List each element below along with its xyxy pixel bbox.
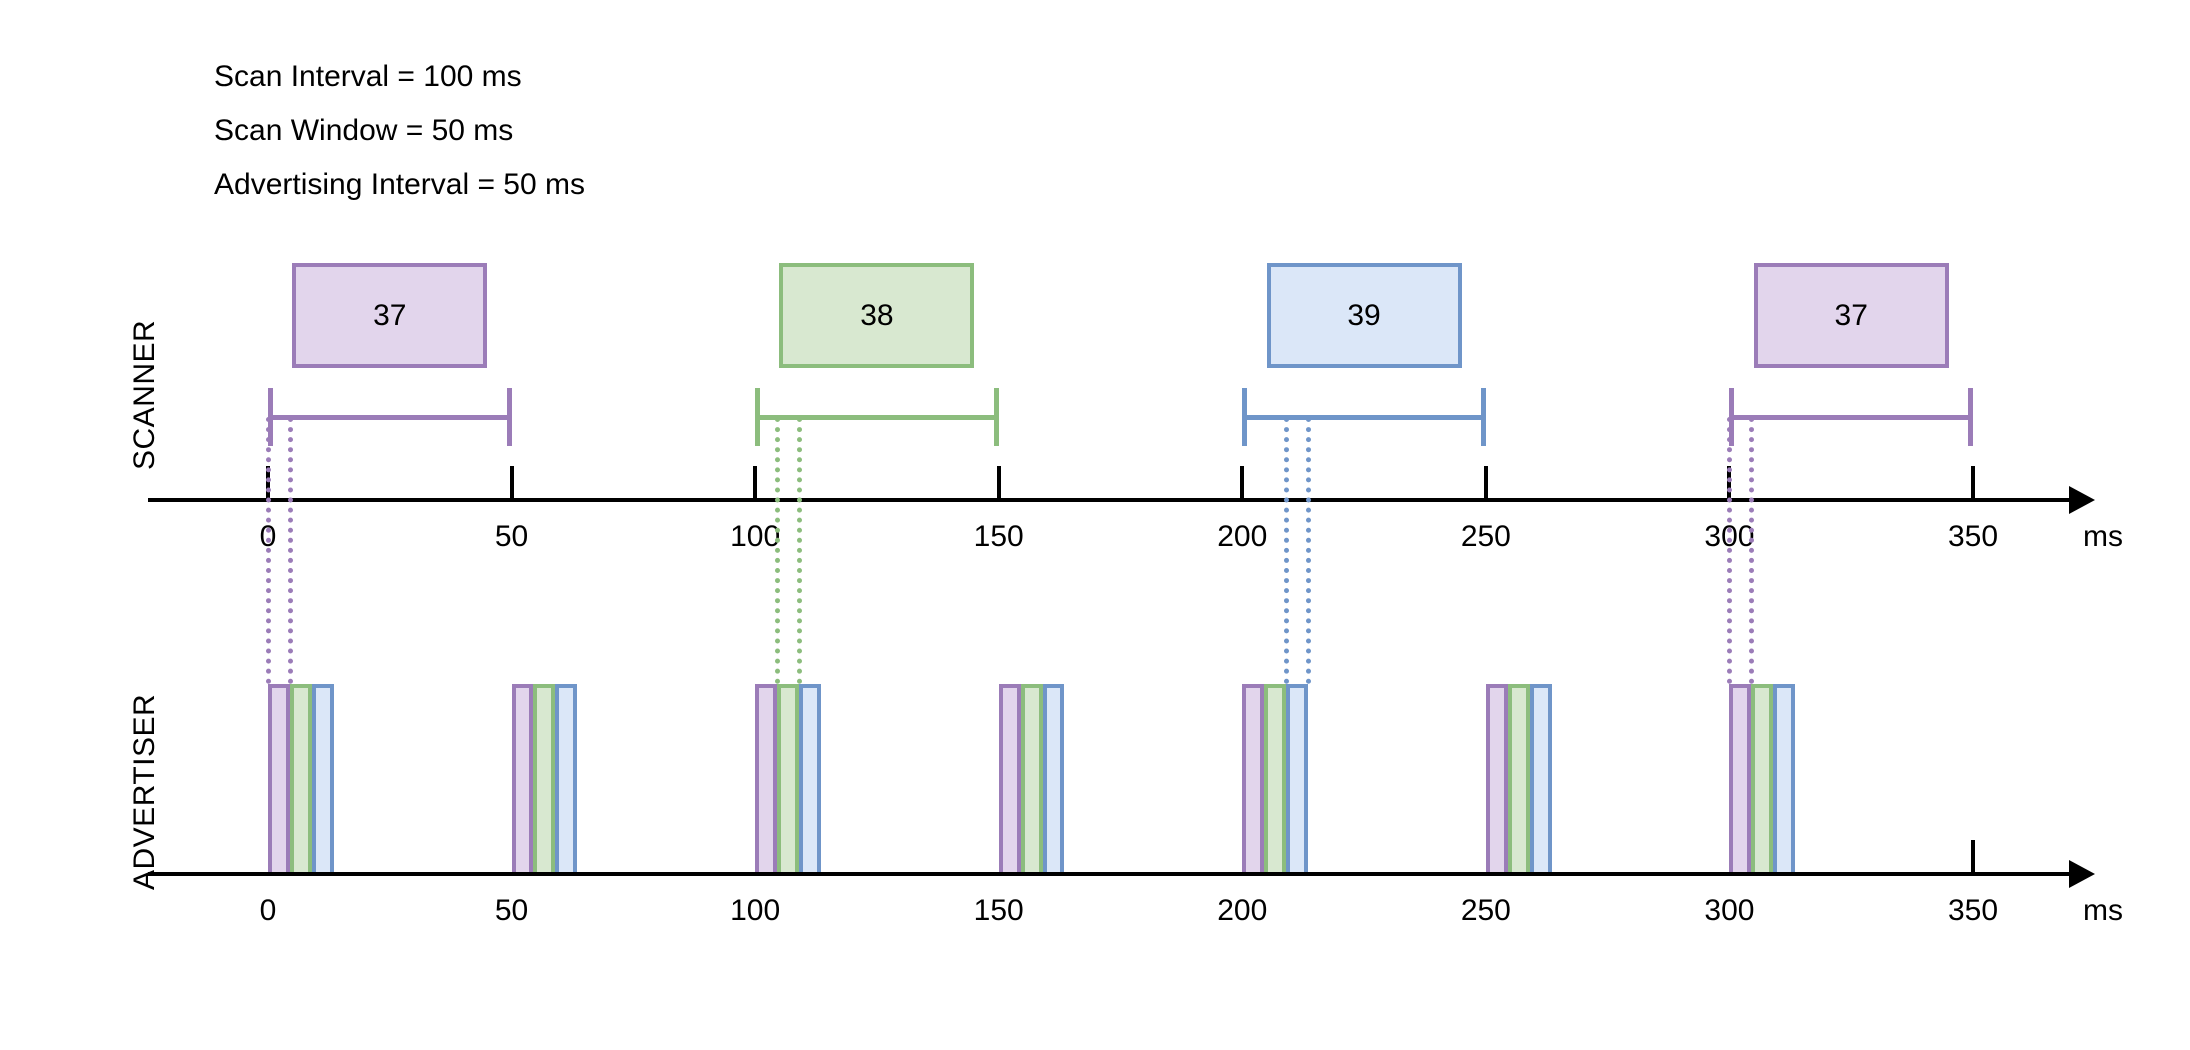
scanner-tick-label-100: 100 — [730, 520, 780, 554]
dotted-link-0-left — [266, 417, 271, 684]
dotted-link-1-left — [775, 417, 780, 684]
advertiser-tick-label-50: 50 — [495, 894, 528, 928]
adv-pulse-g1-ch37 — [512, 684, 534, 872]
dotted-link-3-right — [1749, 417, 1754, 684]
adv-pulse-g6-ch39 — [1773, 684, 1795, 872]
scanner-tick-label-50: 50 — [495, 520, 528, 554]
adv-pulse-g3-ch39 — [1043, 684, 1065, 872]
adv-pulse-g5-ch39 — [1530, 684, 1552, 872]
dotted-link-2-right — [1306, 417, 1311, 684]
advertiser-tick-label-0: 0 — [260, 894, 277, 928]
scanner-tick-150 — [997, 466, 1001, 498]
adv-pulse-g0-ch38 — [290, 684, 312, 872]
scanner-tick-label-350: 350 — [1948, 520, 1998, 554]
adv-pulse-g4-ch39 — [1286, 684, 1308, 872]
adv-pulse-g5-ch38 — [1508, 684, 1530, 872]
advertiser-tick-label-200: 200 — [1217, 894, 1267, 928]
dotted-link-3-left — [1727, 417, 1732, 684]
scanner-tick-100 — [753, 466, 757, 498]
scan-channel-box-2: 39 — [1267, 263, 1462, 368]
scanner-tick-label-200: 200 — [1217, 520, 1267, 554]
advertiser-tick-label-250: 250 — [1461, 894, 1511, 928]
dotted-link-1-right — [797, 417, 802, 684]
scanner-axis-unit: ms — [2083, 520, 2123, 554]
adv-pulse-g4-ch38 — [1264, 684, 1286, 872]
scanner-tick-350 — [1971, 466, 1975, 498]
dotted-link-2-left — [1284, 417, 1289, 684]
advertiser-tick-label-150: 150 — [974, 894, 1024, 928]
scanner-tick-label-150: 150 — [974, 520, 1024, 554]
bracket-bar — [755, 415, 999, 420]
advertiser-axis-line — [148, 872, 2073, 876]
adv-pulse-g0-ch39 — [312, 684, 334, 872]
scanner-axis-arrowhead — [2069, 486, 2095, 514]
adv-pulse-g6-ch37 — [1729, 684, 1751, 872]
adv-pulse-g3-ch37 — [999, 684, 1021, 872]
bracket-bar — [1729, 415, 1973, 420]
scanner-axis-line — [148, 498, 2073, 502]
scan-channel-box-1: 38 — [779, 263, 974, 368]
plot-layer: 37383937050100150200250300350ms050100150… — [0, 0, 2190, 1050]
advertiser-axis-arrowhead — [2069, 860, 2095, 888]
adv-pulse-g1-ch38 — [533, 684, 555, 872]
adv-pulse-g3-ch38 — [1021, 684, 1043, 872]
scanner-tick-label-250: 250 — [1461, 520, 1511, 554]
scan-window-bracket-1 — [755, 388, 999, 446]
advertiser-axis-unit: ms — [2083, 894, 2123, 928]
advertiser-tick-350 — [1971, 840, 1975, 872]
scanner-tick-50 — [510, 466, 514, 498]
adv-pulse-g4-ch37 — [1242, 684, 1264, 872]
adv-pulse-g6-ch38 — [1751, 684, 1773, 872]
scanner-tick-200 — [1240, 466, 1244, 498]
scan-channel-box-0: 37 — [292, 263, 487, 368]
advertiser-tick-label-350: 350 — [1948, 894, 1998, 928]
bracket-bar — [268, 415, 512, 420]
scanner-tick-250 — [1484, 466, 1488, 498]
scan-window-bracket-0 — [268, 388, 512, 446]
timing-diagram: Scan Interval = 100 ms Scan Window = 50 … — [0, 0, 2190, 1050]
adv-pulse-g2-ch39 — [799, 684, 821, 872]
scan-window-bracket-3 — [1729, 388, 1973, 446]
adv-pulse-g2-ch37 — [755, 684, 777, 872]
adv-pulse-g5-ch37 — [1486, 684, 1508, 872]
scan-window-bracket-2 — [1242, 388, 1486, 446]
scan-channel-box-3: 37 — [1754, 263, 1949, 368]
advertiser-tick-label-100: 100 — [730, 894, 780, 928]
dotted-link-0-right — [288, 417, 293, 684]
advertiser-tick-label-300: 300 — [1704, 894, 1754, 928]
adv-pulse-g0-ch37 — [268, 684, 290, 872]
adv-pulse-g2-ch38 — [777, 684, 799, 872]
bracket-bar — [1242, 415, 1486, 420]
adv-pulse-g1-ch39 — [555, 684, 577, 872]
